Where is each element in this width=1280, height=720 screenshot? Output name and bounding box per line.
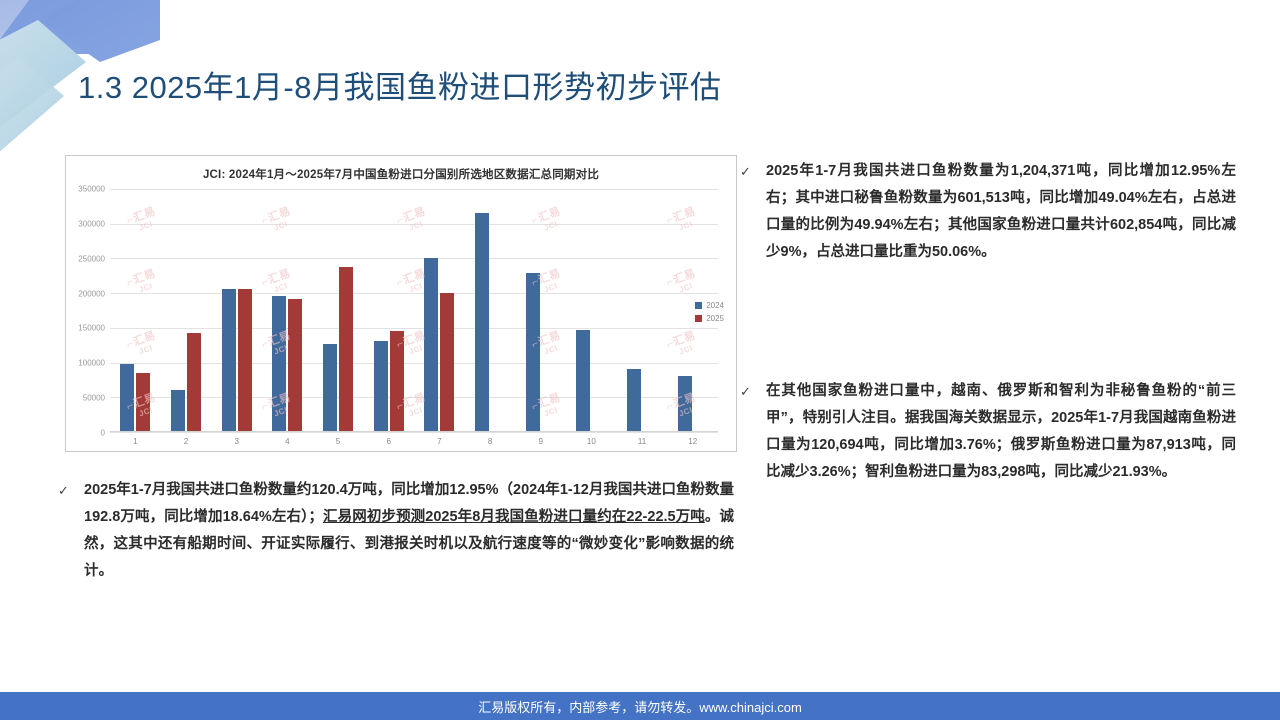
bar-2025-6 [390, 331, 404, 432]
check-icon: ✓ [740, 158, 766, 266]
y-axis-tick-label: 0 [101, 429, 105, 438]
bar-2025-5 [339, 267, 353, 432]
bar-2024-5 [323, 344, 337, 432]
y-axis-tick-label: 100000 [78, 359, 105, 368]
chart-category-group: 3 [211, 189, 262, 432]
x-axis-tick-label: 7 [414, 437, 465, 446]
bar-2024-3 [222, 289, 236, 432]
chart-category-group: 10 [566, 189, 617, 432]
legend-swatch [695, 302, 702, 309]
bar-2025-2 [187, 333, 201, 432]
bullet-right-1-text: 2025年1-7月我国共进口鱼粉数量为1,204,371吨，同比增加12.95%… [766, 158, 1236, 266]
y-axis-tick-label: 250000 [78, 254, 105, 263]
bullet-left-text: 2025年1-7月我国共进口鱼粉数量约120.4万吨，同比增加12.95%（20… [84, 477, 734, 585]
footer-text: 汇易版权所有，内部参考，请勿转发。www.chinajci.com [478, 697, 802, 716]
y-axis-tick-label: 200000 [78, 289, 105, 298]
chart-category-group: 7 [414, 189, 465, 432]
x-axis-tick-label: 11 [617, 437, 668, 446]
bullet-left: ✓ 2025年1-7月我国共进口鱼粉数量约120.4万吨，同比增加12.95%（… [58, 477, 748, 585]
x-axis-tick-label: 10 [566, 437, 617, 446]
legend-item-2024[interactable]: 2024 [695, 299, 724, 312]
legend-label: 2024 [706, 299, 724, 312]
bar-2025-4 [288, 299, 302, 432]
footer-bar: 汇易版权所有，内部参考，请勿转发。www.chinajci.com [0, 692, 1280, 720]
bar-2024-2 [171, 390, 185, 432]
chart-category-group: 9 [515, 189, 566, 432]
bullet-right-1: ✓ 2025年1-7月我国共进口鱼粉数量为1,204,371吨，同比增加12.9… [740, 158, 1245, 266]
bar-2024-8 [475, 213, 489, 432]
chart-panel: JCI: 2024年1月～2025年7月中国鱼粉进口分国别所选地区数据汇总同期对… [65, 155, 737, 452]
chart-category-group: 11 [617, 189, 668, 432]
x-axis-tick-label: 5 [313, 437, 364, 446]
chart-category-group: 5 [313, 189, 364, 432]
check-icon: ✓ [58, 477, 84, 585]
bullet-right-2: ✓ 在其他国家鱼粉进口量中，越南、俄罗斯和智利为非秘鲁鱼粉的“前三甲”，特别引人… [740, 378, 1245, 486]
bar-2024-1 [120, 364, 134, 432]
x-axis-tick-label: 12 [667, 437, 718, 446]
x-axis-tick-label: 2 [161, 437, 212, 446]
chart-plot-area: 0500001000001500002000002500003000003500… [110, 189, 718, 432]
bullet-left-underlined-segment: 汇易网初步预测2025年8月我国鱼粉进口量约在22-22.5万吨 [323, 509, 705, 525]
y-axis-tick-label: 350000 [78, 185, 105, 194]
bar-2024-6 [374, 341, 388, 432]
bar-2025-1 [136, 373, 150, 432]
y-axis-tick-label: 150000 [78, 324, 105, 333]
chart-x-axis [110, 431, 718, 432]
bar-2024-4 [272, 296, 286, 432]
chart-category-group: 2 [161, 189, 212, 432]
chart-bars: 123456789101112 [110, 189, 718, 432]
bar-2024-12 [678, 376, 692, 432]
chart-legend: 20242025 [695, 299, 724, 325]
legend-item-2025[interactable]: 2025 [695, 312, 724, 325]
y-axis-tick-label: 300000 [78, 219, 105, 228]
bar-2025-7 [440, 293, 454, 432]
y-axis-tick-label: 50000 [83, 394, 105, 403]
bar-2024-7 [424, 258, 438, 432]
x-axis-tick-label: 6 [363, 437, 414, 446]
chart-category-group: 8 [465, 189, 516, 432]
x-axis-tick-label: 3 [211, 437, 262, 446]
page-title: 1.3 2025年1月-8月我国鱼粉进口形势初步评估 [78, 62, 721, 107]
bar-2024-11 [627, 369, 641, 432]
x-axis-tick-label: 9 [515, 437, 566, 446]
bar-2025-3 [238, 289, 252, 432]
bar-2024-9 [526, 273, 540, 432]
check-icon: ✓ [740, 378, 766, 486]
chart-category-group: 1 [110, 189, 161, 432]
x-axis-tick-label: 8 [465, 437, 516, 446]
legend-label: 2025 [706, 312, 724, 325]
chart-title: JCI: 2024年1月～2025年7月中国鱼粉进口分国别所选地区数据汇总同期对… [66, 166, 736, 182]
x-axis-tick-label: 1 [110, 437, 161, 446]
legend-swatch [695, 315, 702, 322]
bullet-right-2-text: 在其他国家鱼粉进口量中，越南、俄罗斯和智利为非秘鲁鱼粉的“前三甲”，特别引人注目… [766, 378, 1236, 486]
slide-canvas: 1.3 2025年1月-8月我国鱼粉进口形势初步评估 JCI: 2024年1月～… [0, 0, 1280, 720]
x-axis-tick-label: 4 [262, 437, 313, 446]
chart-category-group: 6 [363, 189, 414, 432]
gridline: 0 [110, 432, 718, 433]
bar-2024-10 [576, 330, 590, 432]
chart-category-group: 4 [262, 189, 313, 432]
